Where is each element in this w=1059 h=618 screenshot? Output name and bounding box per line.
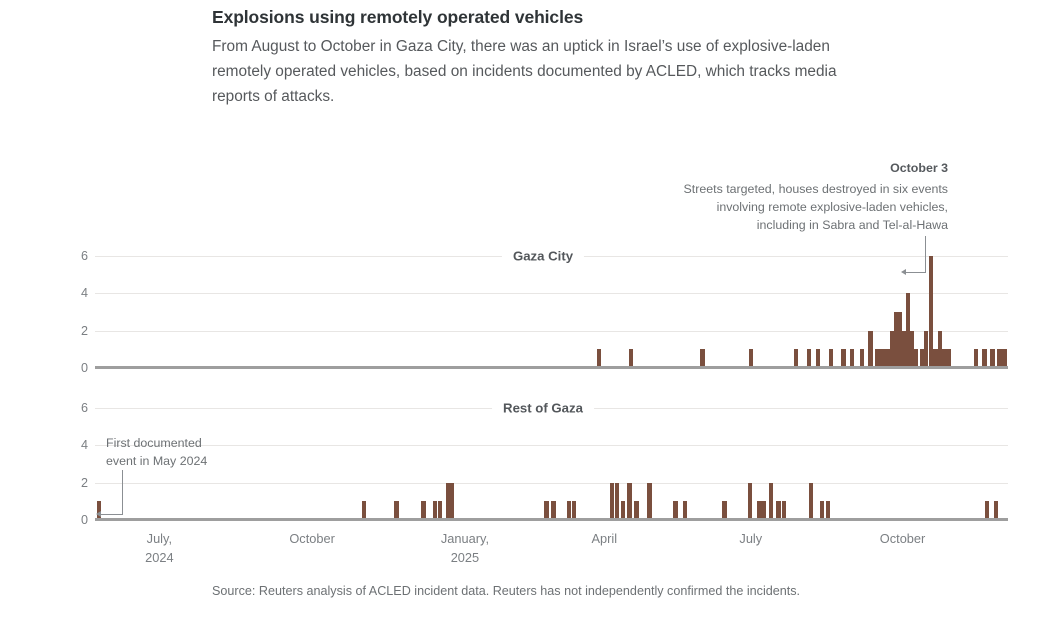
x-axis: July,2024OctoberJanuary,2025AprilJulyOct… [95, 530, 1008, 576]
october-annotation-line-2: involving remote explosive-laden vehicle… [618, 198, 948, 216]
bar [647, 483, 651, 520]
y-axis-tick-label: 0 [0, 513, 88, 527]
bar [610, 483, 614, 520]
x-axis-tick-label-line: 2025 [441, 549, 489, 568]
chart-subtitle: From August to October in Gaza City, the… [212, 35, 872, 110]
bar [748, 483, 752, 520]
first-event-annotation-line-1: First documented [106, 434, 256, 452]
x-axis-tick-label-line: October [289, 530, 335, 549]
chart-panel-gaza-city: 0246 Gaza City [0, 240, 1059, 380]
x-axis-tick-label: October [289, 530, 335, 549]
bar [449, 483, 453, 520]
y-axis-tick-label: 4 [0, 438, 88, 452]
chart-header: Explosions using remotely operated vehic… [212, 6, 872, 110]
x-axis-tick-label-line: January, [441, 530, 489, 549]
x-axis-tick-label-line: July [739, 530, 762, 549]
page-title: Explosions using remotely operated vehic… [212, 6, 872, 29]
y-axis-tick-label: 2 [0, 476, 88, 490]
bar [809, 483, 813, 520]
bar [627, 483, 631, 520]
x-axis-tick-label-line: October [880, 530, 926, 549]
x-axis-tick-label-line: April [591, 530, 617, 549]
x-axis-tick-label: October [880, 530, 926, 549]
first-event-annotation-line-2: event in May 2024 [106, 452, 256, 470]
october-annotation-line-1: Streets targeted, houses destroyed in si… [618, 180, 948, 198]
first-event-annotation: First documented event in May 2024 [106, 434, 256, 471]
x-axis-tick-label: July,2024 [145, 530, 173, 567]
october-annotation: October 3 Streets targeted, houses destr… [618, 160, 948, 235]
panel-label-rest-of-gaza: Rest of Gaza [492, 401, 594, 416]
axis-baseline-gaza-city [95, 366, 1008, 369]
bar [868, 331, 872, 368]
x-axis-tick-label: April [591, 530, 617, 549]
y-axis-tick-label: 0 [0, 361, 88, 375]
plot-area-gaza-city [95, 256, 1008, 368]
x-axis-tick-label-line: 2024 [145, 549, 173, 568]
axis-baseline-rest-of-gaza [95, 518, 1008, 521]
bars-gaza-city [95, 256, 1008, 368]
y-axis-tick-label: 4 [0, 286, 88, 300]
x-axis-tick-label: July [739, 530, 762, 549]
bar [769, 483, 773, 520]
october-annotation-line-3: including in Sabra and Tel-al-Hawa [618, 216, 948, 234]
y-axis-tick-label: 2 [0, 324, 88, 338]
panel-label-gaza-city: Gaza City [502, 249, 584, 264]
source-note: Source: Reuters analysis of ACLED incide… [212, 584, 800, 598]
y-axis-tick-label: 6 [0, 401, 88, 415]
x-axis-tick-label: January,2025 [441, 530, 489, 567]
x-axis-tick-label-line: July, [145, 530, 173, 549]
bar [615, 483, 619, 520]
october-annotation-heading: October 3 [618, 160, 948, 177]
y-axis-tick-label: 6 [0, 249, 88, 263]
